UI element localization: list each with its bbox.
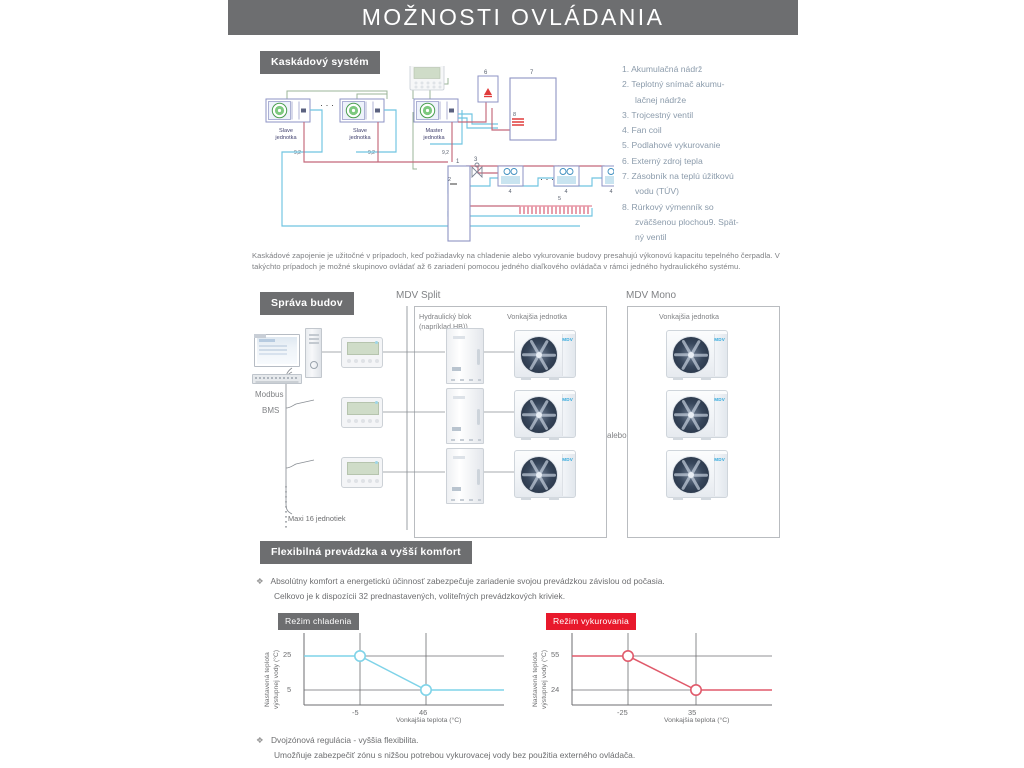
- callout-2: 2: [448, 177, 451, 183]
- wired-controller-3[interactable]: [341, 457, 383, 488]
- building-management-diagram: MDV Split MDV Mono Hydraulický blok (nap…: [252, 290, 798, 540]
- bullet-2-row-2: Umožňuje zabezpečiť zónu s nižšou potreb…: [256, 748, 796, 763]
- cascade-legend-list: 1. Akumulačná nádrž 2. Teplotný snímač a…: [622, 62, 782, 246]
- cascade-diagram-svg: · · · Slave jednotka Slave jednotka Mast…: [262, 66, 614, 246]
- cooling-chart-plot: [256, 611, 524, 723]
- bullet-marker-1: ❖: [256, 576, 264, 586]
- bullet-1-row-2: Celkovo je k dispozícii 32 prednastavený…: [256, 589, 796, 604]
- three-way-valve: 3: [472, 157, 482, 177]
- legend-item-2: 2. Teplotný snímač akumu- lačnej nádrže: [622, 77, 782, 108]
- external-heat-source: 6: [478, 70, 498, 102]
- callout-6: 6: [484, 70, 488, 76]
- port-label-1: 9,2: [294, 150, 301, 156]
- mono-outdoor-unit-2: MDV: [666, 390, 728, 438]
- callout-4-a: 4: [508, 189, 511, 195]
- slave-unit-1: [266, 99, 310, 122]
- bullet-1-text-2: Celkovo je k dispozícii 32 prednastavený…: [274, 591, 565, 601]
- cascade-description: Kaskádové zapojenie je užitočné v prípad…: [252, 250, 797, 273]
- slave-1-label: Slave: [279, 128, 293, 134]
- slave-2-label: Slave: [353, 128, 367, 134]
- monitor-stand: [254, 334, 266, 338]
- odu-brand-2: MDV: [562, 397, 573, 402]
- fan-coil-2: [554, 166, 579, 186]
- pc-tower-icon: [305, 328, 322, 378]
- callout-1: 1: [456, 159, 460, 165]
- heating-point-2: [691, 685, 701, 695]
- odu-brand-4: MDV: [714, 337, 725, 342]
- port-label-3: 9,2: [442, 150, 449, 156]
- master-label: Master: [425, 128, 442, 134]
- bullet-2-text-1: Dvojzónová regulácia - vyššia flexibilit…: [271, 735, 419, 745]
- section-label-flexible: Flexibilná prevádzka a vyšší komfort: [260, 541, 472, 564]
- wired-controller-1[interactable]: [341, 337, 383, 368]
- bullet-1-row-1: ❖ Absolútny komfort a energetickú účinno…: [256, 574, 796, 589]
- fan-coil-3: [602, 166, 614, 186]
- cascade-ellipsis: · · ·: [320, 100, 334, 110]
- split-outdoor-unit-2: MDV: [514, 390, 576, 438]
- legend-item-4: 4. Fan coil: [622, 123, 782, 138]
- callout-8: 8: [513, 112, 516, 118]
- keyboard-icon: [252, 374, 302, 384]
- port-label-2: 9,2: [368, 150, 375, 156]
- legend-item-1: 1. Akumulačná nádrž: [622, 62, 782, 77]
- legend-item-3: 3. Trojcestný ventil: [622, 108, 782, 123]
- master-unit: [414, 99, 458, 122]
- fan-coil-ellipsis: · · ·: [540, 174, 554, 184]
- cooling-point-1: [355, 651, 365, 661]
- hydraulic-block-1: [446, 328, 484, 384]
- flexible-bullet-1: ❖ Absolútny komfort a energetickú účinno…: [256, 574, 796, 604]
- callout-4-b: 4: [564, 189, 567, 195]
- callout-3: 3: [474, 157, 478, 163]
- legend-item-7: 7. Zásobník na teplú úžitkovú vodu (TÚV): [622, 169, 782, 200]
- heating-chart-plot: [524, 611, 796, 723]
- bullet-2-row-1: ❖ Dvojzónová regulácia - vyššia flexibil…: [256, 733, 796, 748]
- callout-4-c: 4: [609, 189, 612, 195]
- mono-outdoor-unit-3: MDV: [666, 450, 728, 498]
- wired-controller-icon: [410, 66, 444, 90]
- buffer-tank: 1 2: [448, 159, 470, 241]
- bullet-marker-2: ❖: [256, 735, 264, 745]
- bullet-1-text-1: Absolútny komfort a energetickú účinnosť…: [271, 576, 665, 586]
- bullet-2-text-2: Umožňuje zabezpečiť zónu s nižšou potreb…: [274, 750, 635, 760]
- page-title: MOŽNOSTI OVLÁDANIA: [362, 4, 665, 31]
- slave-unit-2: [340, 99, 384, 122]
- monitor-icon: [254, 334, 300, 367]
- cooling-chart: Režim chladenia Nastavená teplota výstup…: [256, 611, 524, 723]
- cascade-diagram: · · · Slave jednotka Slave jednotka Mast…: [262, 66, 614, 241]
- heating-point-1: [623, 651, 633, 661]
- hydraulic-block-2: [446, 388, 484, 444]
- odu-brand-5: MDV: [714, 397, 725, 402]
- mono-outdoor-unit-1: MDV: [666, 330, 728, 378]
- split-outdoor-unit-3: MDV: [514, 450, 576, 498]
- split-outdoor-unit-1: MDV: [514, 330, 576, 378]
- fan-coil-1: [498, 166, 523, 186]
- odu-brand-3: MDV: [562, 457, 573, 462]
- page-root: MOŽNOSTI OVLÁDANIA Kaskádový systém: [0, 0, 1024, 768]
- slave-2-sublabel: jednotka: [348, 135, 371, 141]
- flexible-pill-text: Flexibilná prevádzka a vyšší komfort: [260, 541, 472, 564]
- wired-controller-2[interactable]: [341, 397, 383, 428]
- odu-brand-6: MDV: [714, 457, 725, 462]
- callout-7: 7: [530, 70, 534, 76]
- hydraulic-block-3: [446, 448, 484, 504]
- cooling-point-2: [421, 685, 431, 695]
- underfloor-heating: 5: [520, 196, 592, 214]
- page-header: MOŽNOSTI OVLÁDANIA: [228, 0, 798, 35]
- legend-item-6: 6. Externý zdroj tepla: [622, 154, 782, 169]
- modbus-label: Modbus: [255, 390, 283, 399]
- dhw-tank: 7 8: [510, 70, 556, 140]
- slave-1-sublabel: jednotka: [274, 135, 297, 141]
- odu-brand-1: MDV: [562, 337, 573, 342]
- legend-item-5: 5. Podlahové vykurovanie: [622, 138, 782, 153]
- bms-label: BMS: [262, 406, 279, 415]
- flexible-bullet-2: ❖ Dvojzónová regulácia - vyššia flexibil…: [256, 733, 796, 763]
- callout-5: 5: [558, 196, 561, 202]
- master-sublabel: jednotka: [422, 135, 445, 141]
- heating-chart: Režim vykurovania Nastavená teplota výst…: [524, 611, 796, 723]
- legend-item-8: 8. Rúrkový výmenník so zväčšenou plochou…: [622, 200, 782, 246]
